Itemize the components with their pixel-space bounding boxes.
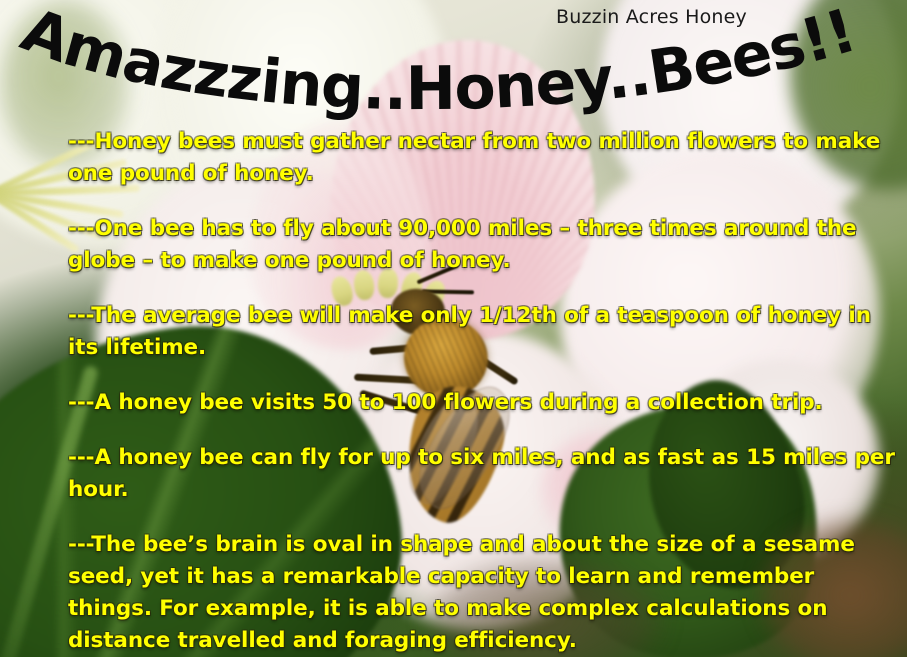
brand-label: Buzzin Acres Honey: [556, 6, 747, 28]
fact-item: ---Honey bees must gather nectar from tw…: [68, 126, 896, 190]
fact-item: ---A honey bee visits 50 to 100 flowers …: [68, 387, 896, 419]
fact-item: ---The average bee will make only 1/12th…: [68, 300, 896, 364]
slide-canvas: Buzzin Acres Honey Amazzzing..Honey..Bee…: [0, 0, 907, 657]
fact-item: ---A honey bee can fly for up to six mil…: [68, 442, 896, 506]
fact-item: ---One bee has to fly about 90,000 miles…: [68, 213, 896, 277]
fact-item: ---The bee’s brain is oval in shape and …: [68, 529, 896, 657]
fact-list: ---Honey bees must gather nectar from tw…: [68, 126, 896, 657]
